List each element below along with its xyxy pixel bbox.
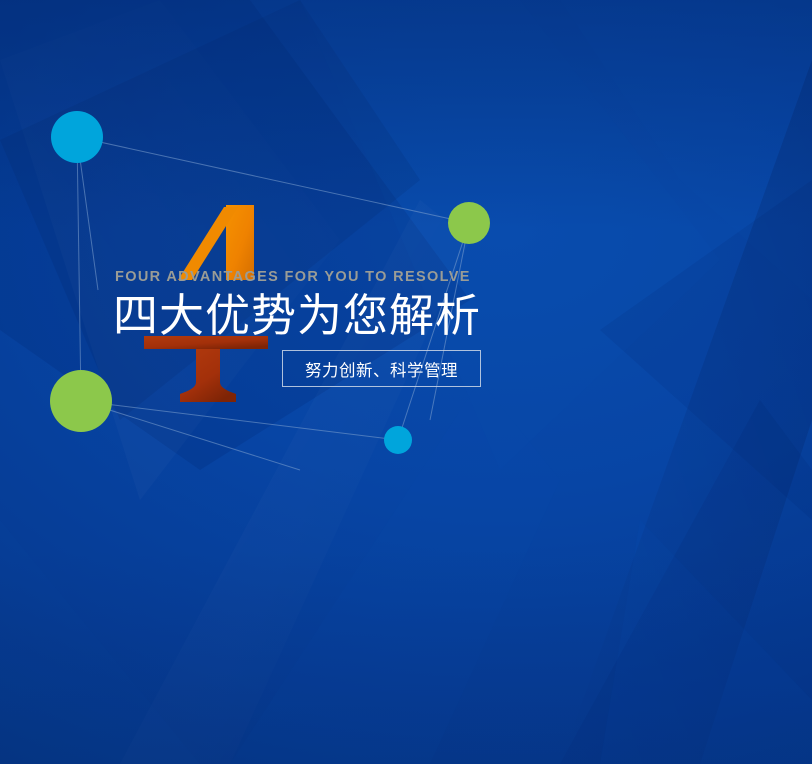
network-node-top-left — [51, 111, 103, 163]
tagline-button[interactable]: 努力创新、科学管理 — [282, 350, 481, 387]
page-title: 四大优势为您解析 — [113, 293, 713, 338]
promo-banner: FOUR ADVANTAGES FOR YOU TO RESOLVE 四大优势为… — [0, 0, 812, 764]
banner-eyebrow: FOUR ADVANTAGES FOR YOU TO RESOLVE — [115, 270, 713, 285]
network-node-bottom-right — [384, 426, 412, 454]
banner-text-block: FOUR ADVANTAGES FOR YOU TO RESOLVE 四大优势为… — [113, 270, 713, 338]
red-pedestal-ornament — [144, 336, 276, 402]
network-node-top-right — [448, 202, 490, 244]
network-node-bottom-left — [50, 370, 112, 432]
